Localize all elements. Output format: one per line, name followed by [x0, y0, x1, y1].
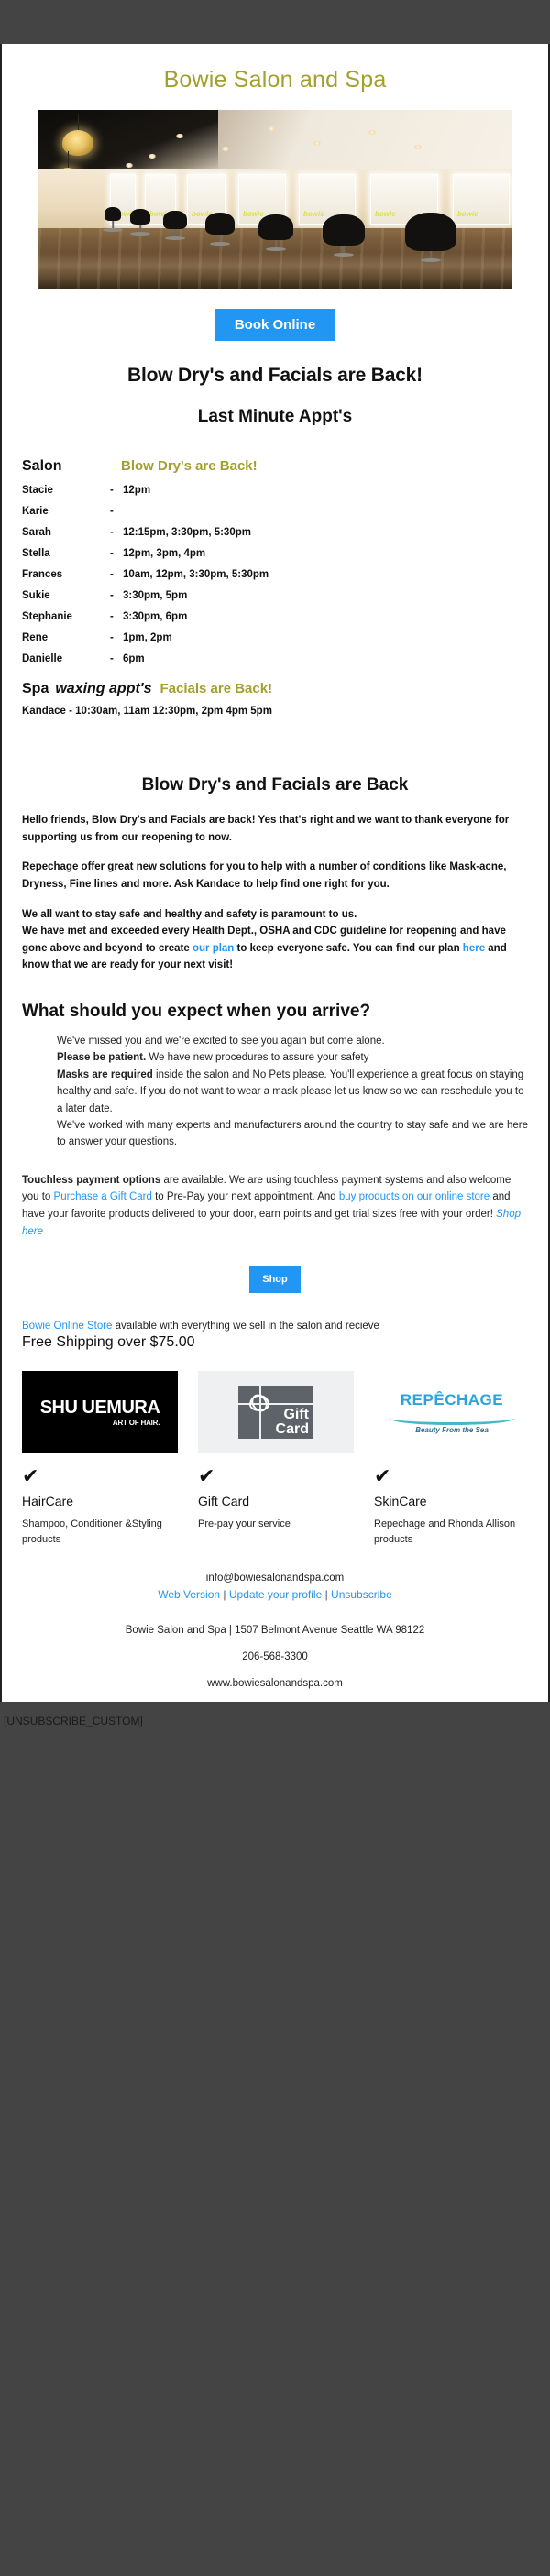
please-be-patient: Please be patient. — [57, 1052, 146, 1063]
article-paragraph-2: Repechage offer great new solutions for … — [22, 859, 528, 893]
schedule-row: Danielle-6pm — [22, 653, 528, 664]
card-skincare[interactable]: REPÊCHAGE Beauty From the Sea ✔ SkinCare… — [374, 1371, 530, 1547]
downlight-icon — [368, 130, 376, 135]
row-dash: - — [110, 548, 123, 559]
stylist-name: Sukie — [22, 590, 110, 601]
free-shipping-text: Free Shipping over $75.00 — [2, 1332, 548, 1351]
touchless-bold: Touchless payment options — [22, 1175, 160, 1186]
business-phone: 206-568-3300 — [22, 1651, 528, 1662]
appointment-times: 12pm — [123, 485, 528, 496]
link-separator: | — [220, 1588, 229, 1601]
schedule-row: Stacie-12pm — [22, 485, 528, 496]
row-dash: - — [110, 506, 123, 517]
heading-main: Blow Dry's and Facials are Back! — [2, 365, 548, 387]
spa-header-row: Spa waxing appt's Facials are Back! — [22, 681, 528, 697]
schedule-row: Rene-1pm, 2pm — [22, 632, 528, 643]
book-online-button[interactable]: Book Online — [214, 309, 335, 341]
safety-line-1: We all want to stay safe and healthy and… — [22, 909, 357, 920]
row-dash: - — [110, 632, 123, 643]
stylist-name: Frances — [22, 569, 110, 580]
check-icon: ✔ — [198, 1466, 354, 1486]
stylist-name: Stacie — [22, 485, 110, 496]
expectations-block: We've missed you and we're excited to se… — [2, 1033, 548, 1151]
schedule-row: Sukie-3:30pm, 5pm — [22, 590, 528, 601]
row-dash: - — [110, 653, 123, 664]
hero-image-wrapper: bowie bowie bowie bowie bowie bowie bowi… — [2, 110, 548, 289]
row-dash: - — [110, 569, 123, 580]
spa-waxing-label: waxing appt's — [55, 681, 151, 697]
stylist-name: Sarah — [22, 527, 110, 538]
shop-button-row: Shop — [2, 1240, 548, 1304]
downlight-icon — [222, 147, 229, 151]
row-dash: - — [110, 611, 123, 622]
expect-line-2: We have new procedures to assure your sa… — [146, 1052, 368, 1063]
web-version-link[interactable]: Web Version — [158, 1588, 220, 1601]
page-title: Bowie Salon and Spa — [2, 44, 548, 110]
downlight-icon — [176, 134, 183, 138]
heading-article: Blow Dry's and Facials are Back — [2, 775, 548, 795]
schedule-row: Stephanie-3:30pm, 6pm — [22, 611, 528, 622]
link-separator: | — [322, 1588, 331, 1601]
business-address: Bowie Salon and Spa | 1507 Belmont Avenu… — [22, 1625, 528, 1636]
appointment-times: 1pm, 2pm — [123, 632, 528, 643]
shu-uemura-logo: SHU UEMURA ART OF HAIR. — [22, 1371, 178, 1453]
card-desc-skincare: Repechage and Rhonda Allison products — [374, 1517, 530, 1547]
top-frame-bar — [0, 0, 550, 44]
schedule-row: Stella-12pm, 3pm, 4pm — [22, 548, 528, 559]
salon-chair — [130, 209, 150, 225]
salon-chair — [405, 213, 456, 251]
email-body: Bowie Salon and Spa bowie bowie bowie bo… — [0, 44, 550, 1702]
salon-chair — [104, 207, 121, 221]
gift-card-icon: GiftCard — [238, 1386, 313, 1439]
touchless-payment-block: Touchless payment options are available.… — [2, 1161, 548, 1241]
article-paragraph-1: Hello friends, Blow Dry's and Facials ar… — [22, 812, 528, 846]
bowie-online-store-link[interactable]: Bowie Online Store — [22, 1321, 112, 1332]
schedule-rows: Stacie-12pmKarie-Sarah-12:15pm, 3:30pm, … — [22, 485, 528, 664]
card-gift-card[interactable]: GiftCard ✔ Gift Card Pre-pay your servic… — [198, 1371, 354, 1547]
repechage-tagline: Beauty From the Sea — [389, 1426, 515, 1434]
stylist-name: Stephanie — [22, 611, 110, 622]
article-paragraph-3: We all want to stay safe and healthy and… — [22, 906, 528, 975]
row-dash: - — [110, 590, 123, 601]
card-title-giftcard: Gift Card — [198, 1494, 354, 1508]
salon-chair — [323, 214, 365, 246]
row-dash: - — [110, 527, 123, 538]
check-icon: ✔ — [22, 1466, 178, 1486]
card-word: Card — [276, 1421, 309, 1437]
repechage-swoosh-icon — [389, 1410, 515, 1425]
downlight-icon — [268, 126, 275, 131]
salon-interior-photo: bowie bowie bowie bowie bowie bowie bowi… — [38, 110, 511, 289]
contact-email: info@bowiesalonandspa.com — [22, 1573, 528, 1584]
card-desc-giftcard: Pre-pay your service — [198, 1517, 354, 1532]
touchless-text-2: to Pre-Pay your next appointment. And — [152, 1191, 339, 1202]
heading-sub: Last Minute Appt's — [2, 407, 548, 427]
schedule-row: Sarah-12:15pm, 3:30pm, 5:30pm — [22, 527, 528, 538]
book-online-row: Book Online — [2, 289, 548, 350]
stylist-name: Rene — [22, 632, 110, 643]
appointment-times: 3:30pm, 5pm — [123, 590, 528, 601]
appointment-times: 12pm, 3pm, 4pm — [123, 548, 528, 559]
store-line-text: available with everything we sell in the… — [112, 1321, 379, 1332]
appointment-times: 3:30pm, 6pm — [123, 611, 528, 622]
spa-schedule-row: Kandace - 10:30am, 11am 12:30pm, 2pm 4pm… — [22, 706, 528, 717]
expect-line-4: We've worked with many experts and manuf… — [57, 1120, 528, 1147]
check-icon: ✔ — [374, 1466, 530, 1486]
bottom-frame-bar: [UNSUBSCRIBE_CUSTOM] — [0, 1702, 550, 1764]
salon-banner: Blow Dry's are Back! — [121, 458, 258, 474]
here-link[interactable]: here — [463, 943, 485, 954]
schedule-row: Karie- — [22, 506, 528, 517]
update-profile-link[interactable]: Update your profile — [229, 1588, 322, 1601]
row-dash: - — [110, 485, 123, 496]
repechage-wordmark: REPÊCHAGE — [389, 1391, 515, 1409]
stylist-name: Stella — [22, 548, 110, 559]
card-title-skincare: SkinCare — [374, 1494, 530, 1508]
salon-chair — [163, 211, 187, 229]
footer-links: Web Version | Update your profile | Unsu… — [22, 1588, 528, 1601]
salon-chair — [205, 213, 235, 235]
appointment-times: 10am, 12pm, 3:30pm, 5:30pm — [123, 569, 528, 580]
downlight-icon — [126, 163, 133, 168]
ceiling-region — [38, 110, 511, 170]
shu-uemura-wordmark: SHU UEMURA — [40, 1398, 160, 1417]
mirror-station: bowie — [453, 174, 510, 225]
repechage-logo: REPÊCHAGE Beauty From the Sea — [374, 1371, 530, 1453]
spa-label: Spa — [22, 681, 49, 697]
shop-button[interactable]: Shop — [249, 1266, 301, 1293]
product-cards: SHU UEMURA ART OF HAIR. ✔ HairCare Shamp… — [2, 1351, 548, 1547]
stylist-name: Karie — [22, 506, 110, 517]
appointment-times: 6pm — [123, 653, 528, 664]
expect-paragraph: We've missed you and we're excited to se… — [57, 1033, 528, 1151]
stylist-name: Danielle — [22, 653, 110, 664]
safety-line-3: to keep everyone safe. You can find our … — [234, 943, 462, 954]
unsubscribe-link[interactable]: Unsubscribe — [331, 1588, 392, 1601]
downlight-icon — [414, 145, 422, 149]
shu-uemura-tagline: ART OF HAIR. — [40, 1419, 160, 1427]
spa-banner: Facials are Back! — [160, 681, 273, 696]
appointment-times: 12:15pm, 3:30pm, 5:30pm — [123, 527, 528, 538]
unsubscribe-token: [UNSUBSCRIBE_CUSTOM] — [4, 1715, 143, 1727]
downlight-icon — [313, 141, 321, 146]
salon-chair — [258, 214, 293, 240]
card-desc-haircare: Shampoo, Conditioner &Styling products — [22, 1517, 178, 1547]
masks-required: Masks are required — [57, 1069, 153, 1080]
gift-word: Gift — [283, 1407, 309, 1422]
our-plan-link[interactable]: our plan — [192, 943, 234, 954]
email-wrapper: Bowie Salon and Spa bowie bowie bowie bo… — [0, 0, 550, 1764]
card-haircare[interactable]: SHU UEMURA ART OF HAIR. ✔ HairCare Shamp… — [22, 1371, 178, 1547]
gift-card-image: GiftCard — [198, 1371, 354, 1453]
downlight-icon — [148, 154, 156, 159]
email-footer: info@bowiesalonandspa.com Web Version | … — [2, 1547, 548, 1689]
touchless-paragraph: Touchless payment options are available.… — [22, 1172, 528, 1241]
article-body: Hello friends, Blow Dry's and Facials ar… — [2, 805, 548, 974]
salon-label: Salon — [22, 458, 121, 475]
purchase-gift-card-link[interactable]: Purchase a Gift Card — [54, 1191, 152, 1202]
schedule-header-row: Salon Blow Dry's are Back! — [22, 458, 528, 475]
expect-line-1: We've missed you and we're excited to se… — [57, 1036, 385, 1047]
appointment-schedule: Salon Blow Dry's are Back! Stacie-12pmKa… — [2, 436, 548, 722]
card-title-haircare: HairCare — [22, 1494, 178, 1508]
business-website: www.bowiesalonandspa.com — [22, 1678, 528, 1689]
online-store-line: Bowie Online Store available with everyt… — [2, 1304, 548, 1332]
online-store-link[interactable]: buy products on our online store — [339, 1191, 489, 1202]
schedule-row: Frances- 10am, 12pm, 3:30pm, 5:30pm — [22, 569, 528, 580]
heading-expect: What should you expect when you arrive? — [2, 1002, 548, 1022]
